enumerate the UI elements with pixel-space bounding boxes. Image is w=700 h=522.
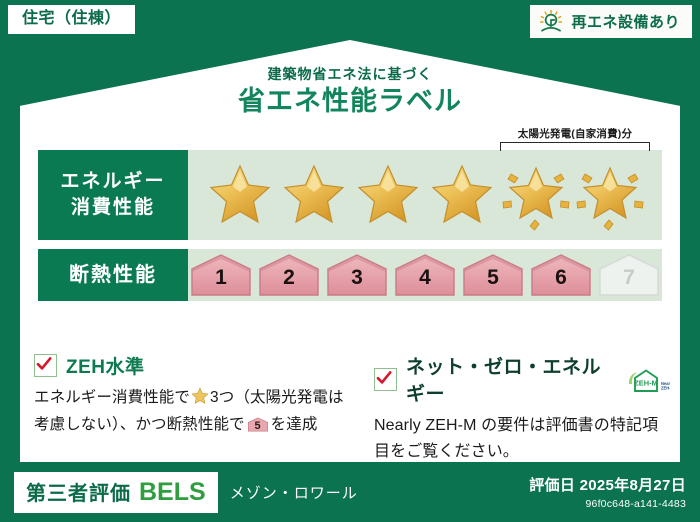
inline-star-icon [191, 387, 209, 413]
insulation-grade-7: 7 [596, 253, 662, 297]
zeh-desc-part2: （太陽光発電 [234, 389, 328, 406]
title-subtitle: 建築物省エネ法に基づく [0, 66, 700, 83]
insulation-grade-1-number: 1 [215, 267, 227, 297]
svg-text:ZEH-M: ZEH-M [634, 379, 657, 388]
bels-label: BELS [139, 478, 206, 507]
energy-label-line1: エネルギー [60, 169, 165, 195]
performance-rows: エネルギー 消費性能 太陽光発電(自家消費)分 [38, 150, 662, 310]
label-title-block: 建築物省エネ法に基づく 省エネ性能ラベル [0, 66, 700, 117]
net-zero-energy-block: ネット・ゼロ・エネルギー ZEH-M Nearly ZEH-M Nearly Z… [366, 352, 670, 465]
energy-label-line2: 消費性能 [71, 195, 155, 221]
inline-grade-number: 5 [247, 421, 269, 432]
evaluation-date: 評価日 2025年8月27日 [529, 474, 686, 495]
energy-row-label: エネルギー 消費性能 [38, 150, 188, 240]
building-type-chip: 住宅（住棟） [8, 5, 135, 34]
zeh-desc-part4: を達成 [271, 416, 318, 433]
net-zero-heading: ネット・ゼロ・エネルギー ZEH-M Nearly ZEH-M [374, 352, 670, 406]
insulation-grade-5-number: 5 [487, 267, 499, 297]
insulation-grade-4: 4 [392, 253, 458, 297]
zeh-m-logo-icon: ZEH-M Nearly ZEH-M [626, 364, 670, 394]
inline-grade-badge: 5 [247, 416, 269, 433]
star-5-solar [500, 157, 572, 233]
solar-annotation-text: 太陽光発電(自家消費)分 [494, 126, 656, 141]
zeh-standard-block: ZEH水準 エネルギー消費性能で3つ（太陽光発電は考慮しない）、かつ断熱性能で5… [34, 352, 366, 465]
label-footer: 第三者評価 BELS メゾン・ロワール 評価日 2025年8月27日 96f0c… [0, 462, 700, 522]
criteria-section: ZEH水準 エネルギー消費性能で3つ（太陽光発電は考慮しない）、かつ断熱性能で5… [34, 352, 670, 465]
insulation-grade-6: 6 [528, 253, 594, 297]
title-main: 省エネ性能ラベル [0, 86, 700, 117]
renewable-badge-label: 再エネ設備あり [571, 11, 680, 32]
footer-meta: 評価日 2025年8月27日 96f0c648-a141-4483 [529, 474, 686, 510]
insulation-grade-3-number: 3 [351, 267, 363, 297]
star-2 [278, 157, 350, 233]
net-zero-description: Nearly ZEH-M の要件は評価書の特記項目をご覧ください。 [374, 413, 670, 465]
insulation-row-label: 断熱性能 [38, 249, 188, 301]
star-1 [204, 157, 276, 233]
zeh-standard-description: エネルギー消費性能で3つ（太陽光発電は考慮しない）、かつ断熱性能で5を達成 [34, 386, 356, 437]
insulation-grade-3: 3 [324, 253, 390, 297]
star-4 [426, 157, 498, 233]
star-6-solar [574, 157, 646, 233]
net-zero-title: ネット・ゼロ・エネルギー [406, 352, 611, 406]
insulation-grade-7-number: 7 [623, 267, 635, 297]
insulation-grade-1: 1 [188, 253, 254, 297]
insulation-grade-track: 1 2 3 [188, 249, 662, 301]
insulation-grade-4-number: 4 [419, 267, 431, 297]
star-3 [352, 157, 424, 233]
energy-performance-label: ハウスマ 住宅（住棟） 再エネ設備あり [0, 0, 700, 522]
zeh-desc-part1: エネルギー消費性能で [34, 389, 190, 406]
property-name: メゾン・ロワール [230, 482, 358, 503]
insulation-grade-2: 2 [256, 253, 322, 297]
insulation-performance-row: 断熱性能 1 [38, 249, 662, 301]
certificate-id: 96f0c648-a141-4483 [529, 498, 686, 510]
insulation-grade-6-number: 6 [555, 267, 567, 297]
zeh-standard-title: ZEH水準 [66, 352, 145, 379]
zeh-standard-heading: ZEH水準 [34, 352, 356, 379]
check-icon [374, 368, 397, 391]
check-icon [34, 354, 57, 377]
energy-star-track: 太陽光発電(自家消費)分 [188, 150, 662, 240]
insulation-label-text: 断熱性能 [69, 262, 157, 289]
insulation-grade-5: 5 [460, 253, 526, 297]
svg-text:ZEH-M: ZEH-M [661, 386, 670, 391]
renewable-equipment-badge: 再エネ設備あり [530, 5, 692, 38]
solar-annotation-bracket [500, 142, 650, 151]
solar-generation-annotation: 太陽光発電(自家消費)分 [494, 126, 656, 151]
zeh-desc-star-count: 3つ [210, 389, 234, 406]
insulation-grade-2-number: 2 [283, 267, 295, 297]
third-party-label: 第三者評価 [26, 477, 131, 506]
solar-sun-icon [538, 9, 564, 33]
bels-certification-chip: 第三者評価 BELS [14, 472, 218, 513]
energy-performance-row: エネルギー 消費性能 太陽光発電(自家消費)分 [38, 150, 662, 240]
